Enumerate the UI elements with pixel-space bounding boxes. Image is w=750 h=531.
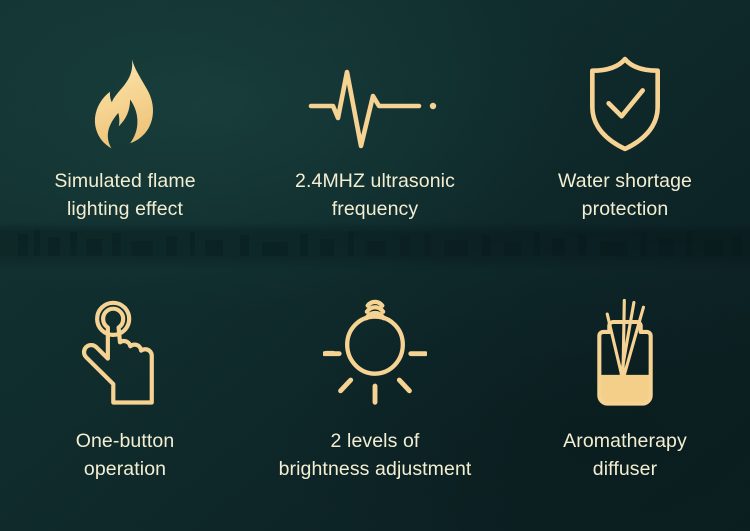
feature-caption: Water shortage protection <box>558 167 692 223</box>
feature-caption: Simulated flame lighting effect <box>54 167 195 223</box>
feature-caption-line2: diffuser <box>563 455 687 483</box>
feature-caption: Aromatherapy diffuser <box>563 427 687 483</box>
feature-caption: 2.4MHZ ultrasonic frequency <box>295 167 455 223</box>
shield-check-icon <box>581 52 669 156</box>
feature-caption-line2: operation <box>76 455 175 483</box>
feature-caption-line1: 2.4MHZ ultrasonic <box>295 167 455 195</box>
feature-card-one-button-operation: One-button operation <box>0 266 250 531</box>
feature-caption-line1: Water shortage <box>558 167 692 195</box>
touch-hand-icon <box>79 293 171 413</box>
pulse-waveform-icon <box>307 52 443 156</box>
feature-caption-line2: lighting effect <box>54 195 195 223</box>
feature-caption-line1: 2 levels of <box>279 427 472 455</box>
feature-card-water-shortage-protection: Water shortage protection <box>500 0 750 266</box>
feature-caption-line2: frequency <box>295 195 455 223</box>
feature-panel: Simulated flame lighting effect 2.4MHZ u… <box>0 0 750 531</box>
feature-card-aromatherapy-diffuser: Aromatherapy diffuser <box>500 266 750 531</box>
feature-card-ultrasonic-frequency: 2.4MHZ ultrasonic frequency <box>250 0 500 266</box>
feature-grid: Simulated flame lighting effect 2.4MHZ u… <box>0 0 750 531</box>
feature-card-brightness-adjustment: 2 levels of brightness adjustment <box>250 266 500 531</box>
feature-caption-line1: Aromatherapy <box>563 427 687 455</box>
feature-caption: One-button operation <box>76 427 175 483</box>
reed-diffuser-icon <box>578 293 672 413</box>
flame-icon <box>77 52 173 156</box>
feature-caption-line1: One-button <box>76 427 175 455</box>
feature-card-simulated-flame: Simulated flame lighting effect <box>0 0 250 266</box>
feature-caption-line2: brightness adjustment <box>279 455 472 483</box>
feature-caption: 2 levels of brightness adjustment <box>279 427 472 483</box>
lightbulb-icon <box>323 293 427 413</box>
feature-caption-line2: protection <box>558 195 692 223</box>
feature-caption-line1: Simulated flame <box>54 167 195 195</box>
